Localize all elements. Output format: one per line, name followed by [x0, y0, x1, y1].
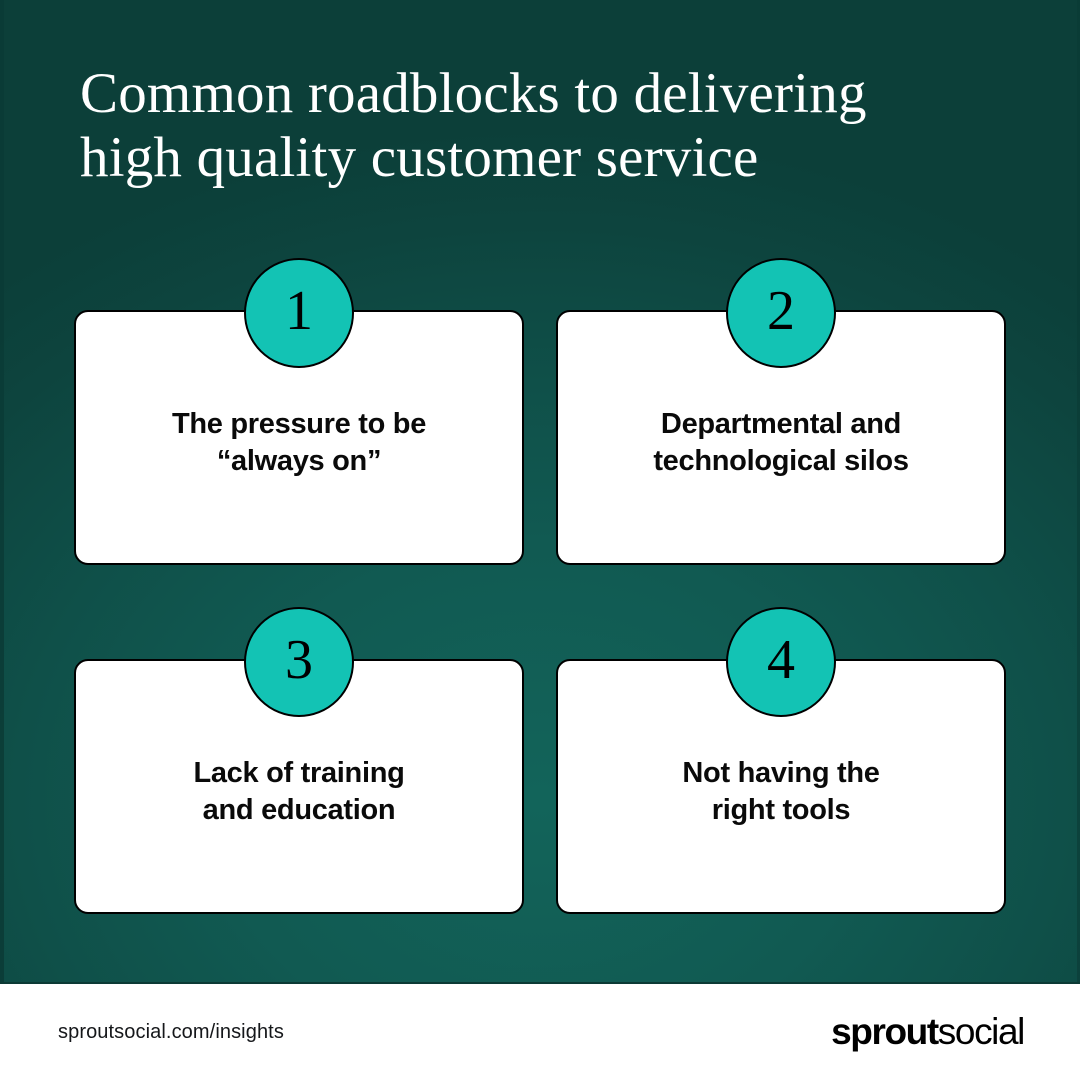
footer-bar: sproutsocial.com/insights sproutsocial — [0, 982, 1080, 1080]
number-badge-2: 2 — [726, 258, 836, 368]
roadblock-card-grid: 1 The pressure to be “always on” 2 Depar… — [0, 0, 1080, 980]
logo-word-sprout: sprout — [831, 1011, 938, 1053]
roadblock-card-4: 4 Not having the right tools — [556, 659, 1006, 914]
logo-word-social: social — [938, 1011, 1024, 1053]
roadblock-card-3: 3 Lack of training and education — [74, 659, 524, 914]
badge-number-label: 2 — [767, 283, 795, 339]
badge-number-label: 4 — [767, 632, 795, 688]
roadblock-card-1: 1 The pressure to be “always on” — [74, 310, 524, 565]
number-badge-4: 4 — [726, 607, 836, 717]
card-label: The pressure to be “always on” — [98, 406, 500, 480]
badge-number-label: 1 — [285, 283, 313, 339]
number-badge-1: 1 — [244, 258, 354, 368]
card-label: Departmental and technological silos — [580, 406, 982, 480]
footer-url[interactable]: sproutsocial.com/insights — [58, 1021, 284, 1044]
infographic-canvas: Common roadblocks to delivering high qua… — [0, 0, 1080, 1080]
number-badge-3: 3 — [244, 607, 354, 717]
card-label: Not having the right tools — [580, 755, 982, 829]
sproutsocial-logo: sproutsocial — [831, 1011, 1024, 1053]
roadblock-card-2: 2 Departmental and technological silos — [556, 310, 1006, 565]
card-label: Lack of training and education — [98, 755, 500, 829]
badge-number-label: 3 — [285, 632, 313, 688]
